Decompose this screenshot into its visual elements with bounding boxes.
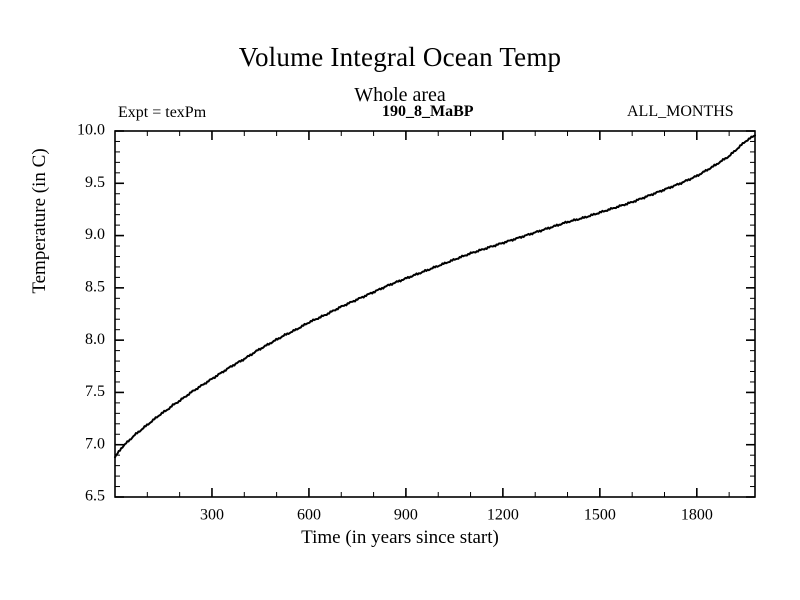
y-tick-label: 10.0 bbox=[77, 122, 105, 139]
axes bbox=[115, 131, 755, 497]
series-line bbox=[115, 135, 755, 457]
x-tick-label: 300 bbox=[200, 506, 224, 523]
y-tick-label: 8.5 bbox=[85, 279, 105, 296]
y-tick-label: 7.5 bbox=[85, 383, 105, 400]
x-tick-label: 1200 bbox=[487, 506, 519, 523]
x-tick-label: 900 bbox=[394, 506, 418, 523]
chart-page: Volume Integral Ocean Temp Whole area Ex… bbox=[0, 0, 800, 600]
y-tick-label: 8.0 bbox=[85, 331, 105, 348]
x-tick-label: 600 bbox=[297, 506, 321, 523]
y-tick-label: 9.0 bbox=[85, 226, 105, 243]
x-tick-labels: 300600900120015001800 bbox=[200, 506, 713, 523]
data-series bbox=[115, 135, 755, 457]
y-tick-labels: 6.57.07.58.08.59.09.510.0 bbox=[77, 122, 105, 505]
x-tick-label: 1800 bbox=[681, 506, 713, 523]
y-tick-label: 7.0 bbox=[85, 435, 105, 452]
x-tick-label: 1500 bbox=[584, 506, 616, 523]
y-tick-label: 6.5 bbox=[85, 488, 105, 505]
x-axis-label: Time (in years since start) bbox=[0, 527, 800, 549]
tick-marks bbox=[115, 131, 755, 497]
y-axis-label: Temperature (in C) bbox=[29, 121, 51, 321]
plot-area: 6.57.07.58.08.59.09.510.0 30060090012001… bbox=[0, 0, 800, 600]
y-tick-label: 9.5 bbox=[85, 174, 105, 191]
